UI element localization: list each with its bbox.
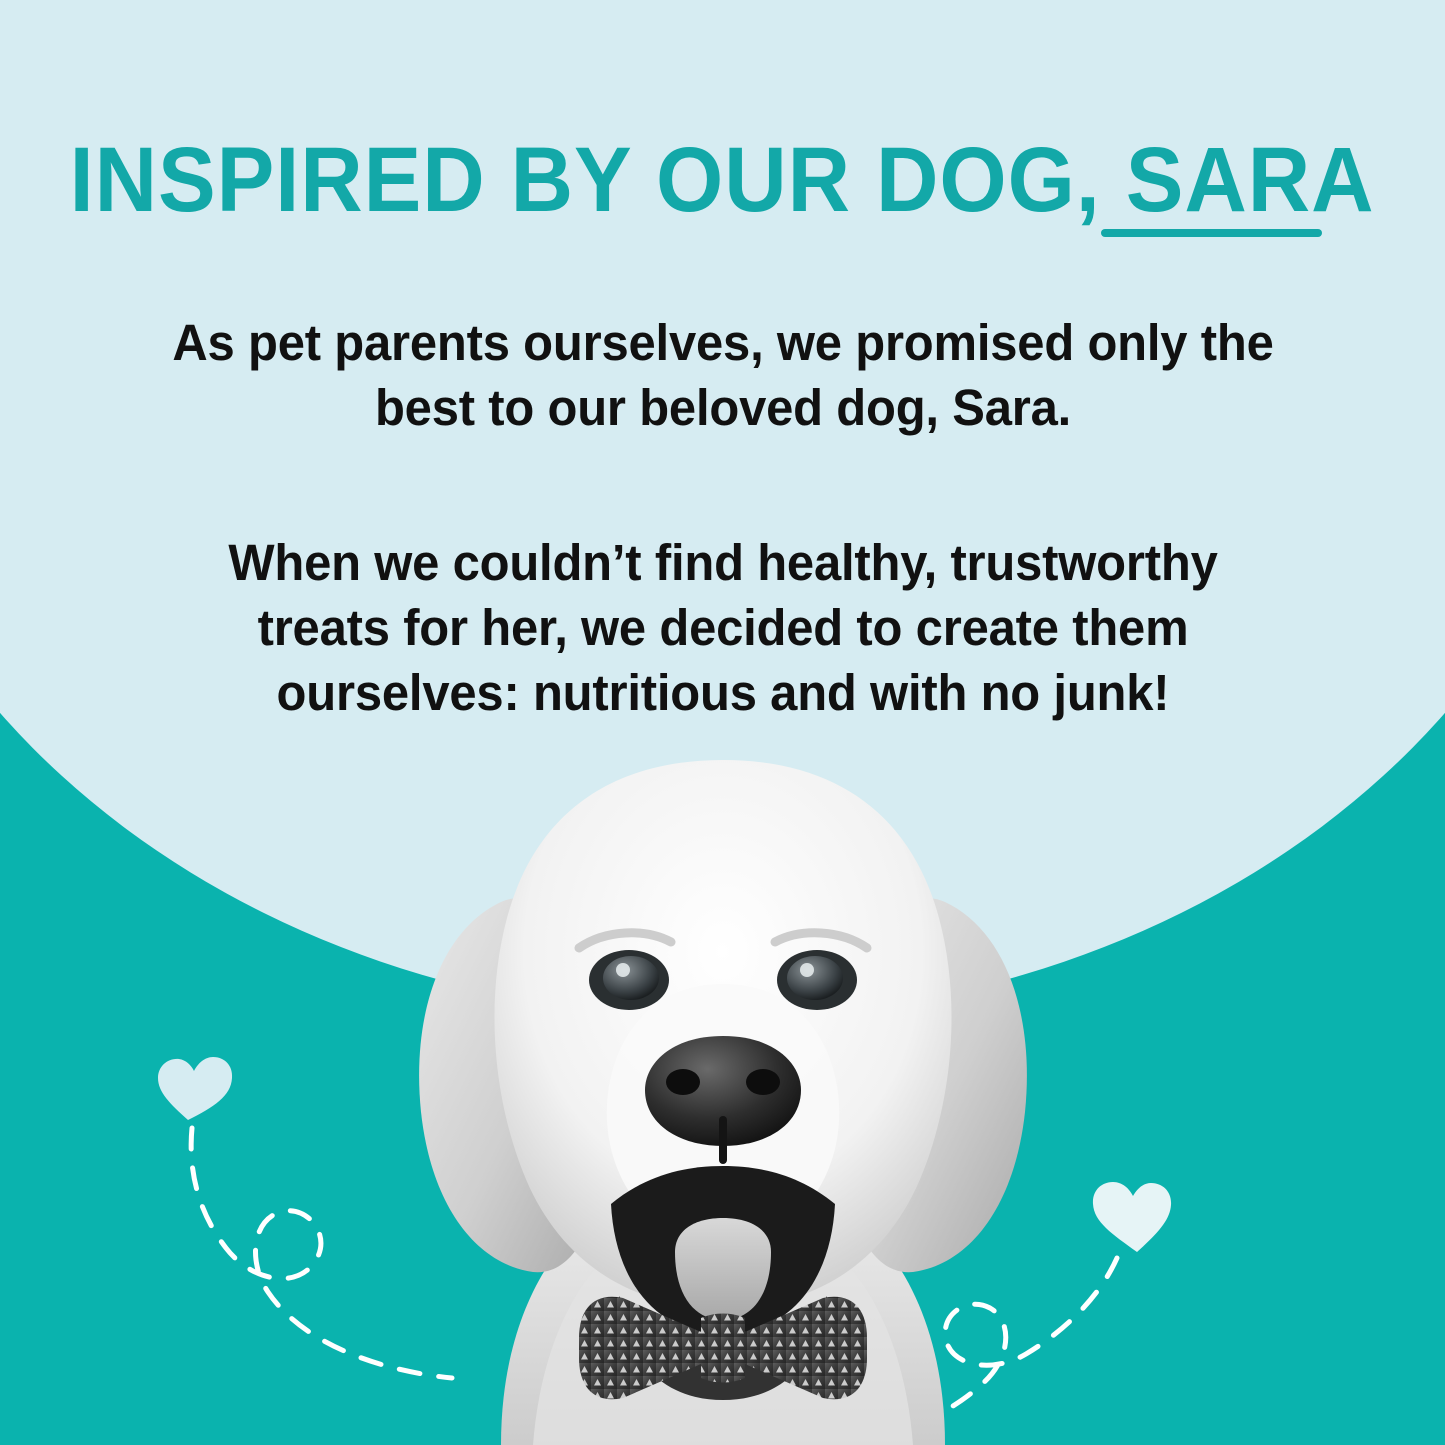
page-title: INSPIRED BY OUR DOG, SARA bbox=[0, 132, 1445, 228]
headline-accent-sara: SARA bbox=[1126, 129, 1375, 231]
headline-lead: INSPIRED BY OUR DOG, bbox=[70, 129, 1126, 231]
promo-graphic: INSPIRED BY OUR DOG, SARA As pet parents… bbox=[0, 0, 1445, 1445]
paragraph-two: When we couldn’t find healthy, trustwort… bbox=[166, 530, 1280, 725]
paragraph-one: As pet parents ourselves, we promised on… bbox=[166, 310, 1280, 440]
body-copy: As pet parents ourselves, we promised on… bbox=[0, 310, 1445, 725]
dog-photo bbox=[383, 752, 1063, 1445]
headline-text: INSPIRED BY OUR DOG, SARA bbox=[70, 132, 1375, 228]
paragraph-spacer bbox=[0, 440, 1445, 530]
headline-underline bbox=[1101, 229, 1322, 237]
